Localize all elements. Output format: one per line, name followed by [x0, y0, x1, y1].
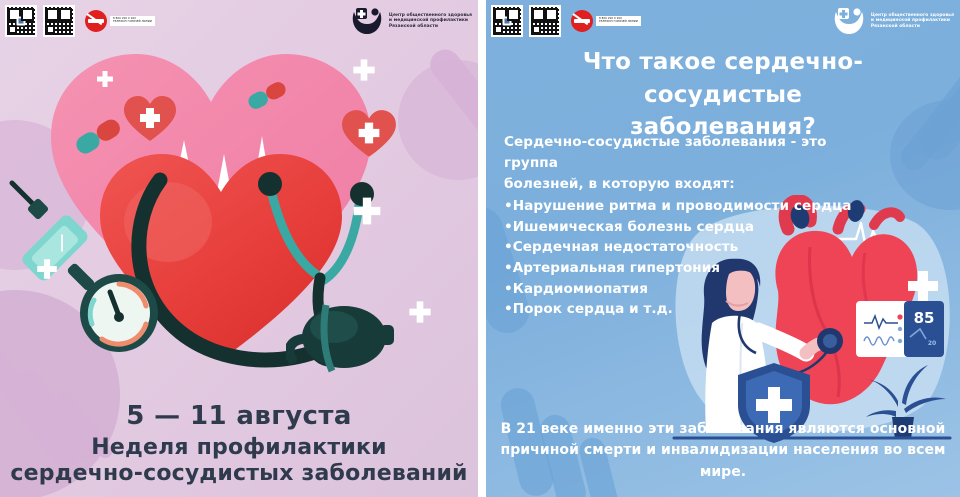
white-cross-icon	[408, 300, 432, 324]
header-logo-group: Центр общественного здоровья и медицинск…	[832, 6, 960, 36]
header-codes-group: 8 800 200 0 200 ТЕЛЕФОН ГОРЯЧЕЙ ЛИНИИ	[486, 5, 641, 37]
qr-code-vk[interactable]	[5, 5, 37, 37]
logo-line-2: и медицинской профилактики	[389, 18, 472, 24]
health-center-logo-icon	[350, 6, 384, 36]
right-poster-panel: 85 20	[486, 0, 960, 497]
small-heart-with-cross-icon	[122, 94, 178, 144]
blood-pressure-gauge-icon	[78, 272, 160, 354]
hotline-label: 8 800 200 0 200 ТЕЛЕФОН ГОРЯЧЕЙ ЛИНИИ	[596, 16, 641, 26]
list-item: •Ишемическая болезнь сердца	[504, 217, 834, 238]
no-smoking-badge: 8 800 200 0 200 ТЕЛЕФОН ГОРЯЧЕЙ ЛИНИИ	[571, 10, 641, 32]
list-item: •Порок сердца и т.д.	[504, 299, 834, 320]
logo-line-2: и медицинской профилактики	[871, 18, 954, 24]
white-cross-icon	[36, 258, 58, 280]
white-cross-icon	[96, 70, 114, 88]
no-smoking-badge: 8 800 200 0 200 ТЕЛЕФОН ГОРЯЧЕЙ ЛИНИИ	[85, 10, 155, 32]
capsule-pill-icon	[70, 116, 128, 156]
left-header-bar: 8 800 200 0 200 ТЕЛЕФОН ГОРЯЧЕЙ ЛИНИИ Це…	[0, 0, 478, 42]
monitor-value: 85	[914, 309, 935, 327]
header-logo-group: Центр общественного здоровья и медицинск…	[350, 6, 478, 36]
white-cross-icon	[352, 196, 382, 226]
hotline-caption: ТЕЛЕФОН ГОРЯЧЕЙ ЛИНИИ	[599, 21, 638, 24]
qr-code-plain[interactable]	[43, 5, 75, 37]
no-smoking-icon	[571, 10, 593, 32]
panel-divider	[478, 0, 486, 497]
logo-line-3: Рязанской области	[871, 24, 954, 30]
logo-text: Центр общественного здоровья и медицинск…	[389, 13, 472, 30]
white-cross-icon	[352, 58, 376, 82]
lead-line-1: Сердечно-сосудистые заболевания - это гр…	[504, 132, 834, 173]
title-line-1: Что такое сердечно-сосудистые	[504, 46, 942, 111]
blood-pressure-bulb-icon	[286, 295, 396, 375]
logo-line-3: Рязанской области	[389, 24, 472, 30]
list-item: •Сердечная недостаточность	[504, 237, 834, 258]
no-smoking-icon	[85, 10, 107, 32]
footer-line-1: В 21 веке именно эти заболевания являютс…	[500, 419, 946, 440]
vital-signs-monitor: 85 20	[856, 301, 944, 357]
footer-line-3: мире.	[500, 462, 946, 483]
hotline-label: 8 800 200 0 200 ТЕЛЕФОН ГОРЯЧЕЙ ЛИНИИ	[110, 16, 155, 26]
hotline-caption: ТЕЛЕФОН ГОРЯЧЕЙ ЛИНИИ	[113, 21, 152, 24]
right-poster-title: Что такое сердечно-сосудистые заболевани…	[486, 46, 960, 144]
left-poster-panel: 8 800 200 0 200 ТЕЛЕФОН ГОРЯЧЕЙ ЛИНИИ Це…	[0, 0, 478, 497]
health-center-logo-icon	[832, 6, 866, 36]
right-header-bar: 8 800 200 0 200 ТЕЛЕФОН ГОРЯЧЕЙ ЛИНИИ Це…	[486, 0, 960, 42]
qr-code-plain[interactable]	[529, 5, 561, 37]
poster-pair: 8 800 200 0 200 ТЕЛЕФОН ГОРЯЧЕЙ ЛИНИИ Це…	[0, 0, 960, 497]
cvd-definition-body: Сердечно-сосудистые заболевания - это гр…	[504, 132, 834, 320]
list-item: •Нарушение ритма и проводимости сердца	[504, 196, 834, 217]
header-codes-group: 8 800 200 0 200 ТЕЛЕФОН ГОРЯЧЕЙ ЛИНИИ	[0, 5, 155, 37]
campaign-date: 5 — 11 августа	[0, 401, 478, 431]
monitor-sub-value: 20	[928, 340, 936, 347]
logo-text: Центр общественного здоровья и медицинск…	[871, 13, 954, 30]
campaign-headline-line-2: сердечно-сосудистых заболеваний	[0, 461, 478, 487]
campaign-headline-line-1: Неделя профилактики	[0, 435, 478, 461]
capsule-pill-icon	[245, 78, 293, 112]
right-poster-footer: В 21 веке именно эти заболевания являютс…	[500, 419, 946, 483]
list-item: •Артериальная гипертония	[504, 258, 834, 279]
qr-code-vk[interactable]	[491, 5, 523, 37]
lead-line-2: болезней, в которую входят:	[504, 174, 834, 195]
footer-line-2: причиной смерти и инвалидизации населени…	[500, 440, 946, 461]
list-item: •Кардиомиопатия	[504, 279, 834, 300]
small-heart-with-cross-icon	[340, 108, 398, 160]
left-poster-text: 5 — 11 августа Неделя профилактики серде…	[0, 401, 478, 487]
